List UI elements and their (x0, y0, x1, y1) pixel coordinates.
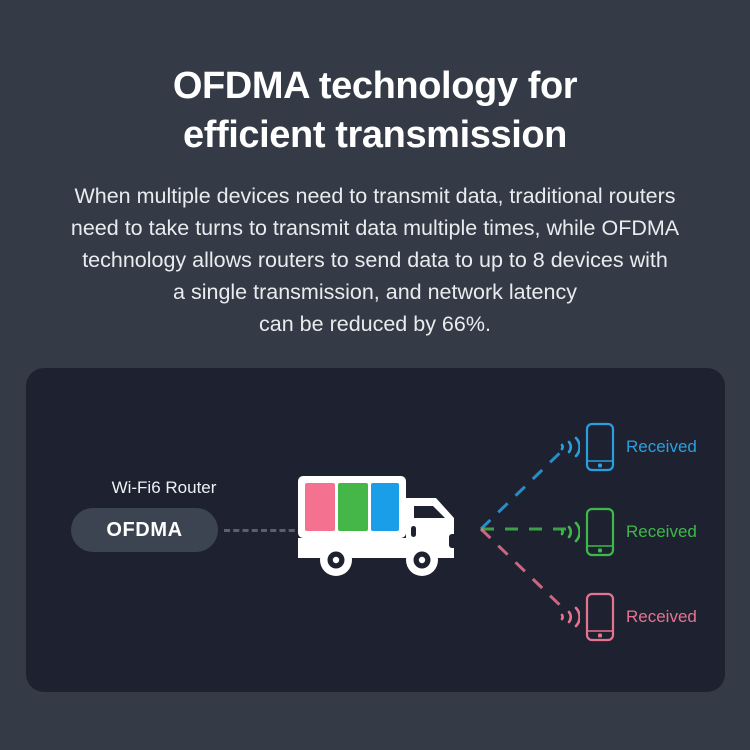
truck-front-wheel-center (419, 557, 425, 563)
phone-icon (585, 592, 615, 642)
description-line-1: When multiple devices need to transmit d… (22, 181, 728, 213)
description-line-2: need to take turns to transmit data mult… (22, 213, 728, 245)
device-status-label: Received (626, 522, 697, 542)
page-title: OFDMA technology for efficient transmiss… (0, 0, 750, 159)
diagram-card: Wi-Fi6 Router OFDMA (26, 368, 725, 692)
signal-waves-icon (554, 600, 580, 634)
device-status-label: Received (626, 607, 697, 627)
description-line-5: can be reduced by 66%. (22, 309, 728, 341)
device-row-pink: Received (554, 586, 697, 648)
device-row-blue: Received (554, 416, 697, 478)
page-title-line-2: efficient transmission (70, 111, 680, 160)
device-row-green: Received (554, 501, 697, 563)
phone-icon (585, 422, 615, 472)
delivery-truck-icon (294, 472, 484, 588)
signal-waves-icon (554, 430, 580, 464)
truck-rear-wheel-center (333, 557, 339, 563)
truck-door-handle (411, 526, 416, 537)
description-line-3: technology allows routers to send data t… (22, 245, 728, 277)
device-status-label: Received (626, 437, 697, 457)
truck-bumper-notch (449, 534, 457, 548)
phone-icon (585, 507, 615, 557)
cargo-panel-green (338, 483, 368, 531)
cargo-panel-blue (371, 483, 399, 531)
description-paragraph: When multiple devices need to transmit d… (0, 159, 750, 340)
description-line-4: a single transmission, and network laten… (22, 277, 728, 309)
ofdma-diagram: Wi-Fi6 Router OFDMA (26, 368, 725, 692)
page-title-line-1: OFDMA technology for (70, 62, 680, 111)
cargo-panel-pink (305, 483, 335, 531)
signal-waves-icon (554, 515, 580, 549)
